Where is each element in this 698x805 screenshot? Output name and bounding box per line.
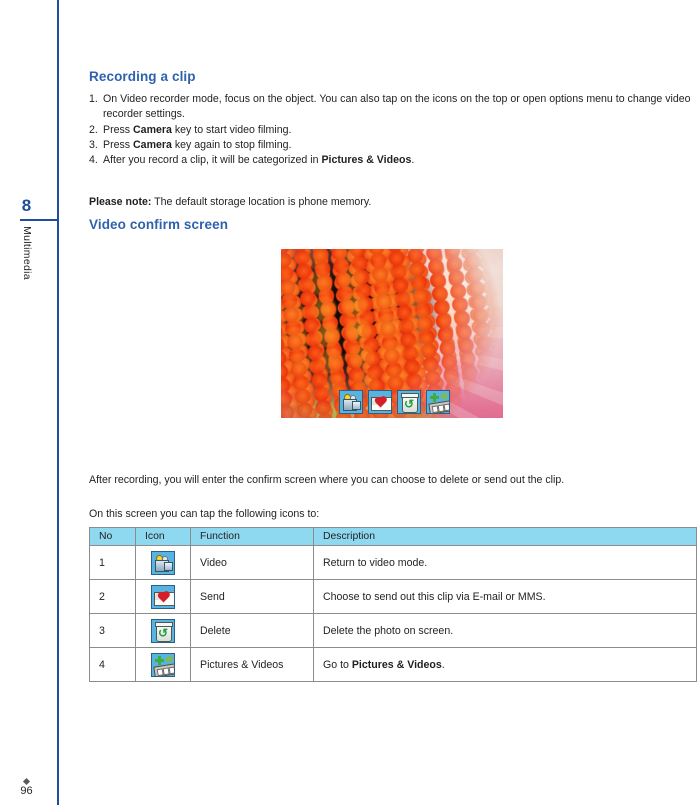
delete-icon[interactable]: ↺ [397,390,421,414]
procedure-step: 4.After you record a clip, it will be ca… [89,153,698,168]
plain-text: After you record a clip, it will be cate… [103,154,321,166]
plain-text: . [411,154,414,166]
step-number: 2. [89,123,98,138]
delete-icon: ↺ [151,619,175,643]
plain-text: key again to stop filming. [172,139,292,151]
column-header-description: Description [314,528,697,546]
cell-description: Return to video mode. [314,546,697,580]
cell-function: Send [191,580,314,614]
chapter-label: Multimedia [21,209,33,297]
paragraph-after-recording: After recording, you will enter the conf… [89,473,564,488]
procedure-step: 3.Press Camera key again to stop filming… [89,138,698,153]
plain-text: Choose to send out this clip via E-mail … [323,591,546,603]
cell-icon [136,580,191,614]
plain-text: key to start video filming. [172,124,292,136]
plain-text: Press [103,139,133,151]
confirm-screen-icons-table: No Icon Function Description 1VideoRetur… [89,527,697,682]
column-header-function: Function [191,528,314,546]
please-note-label: Please note: [89,196,151,208]
procedure-step: 2.Press Camera key to start video filmin… [89,123,698,138]
cell-description: Go to Pictures & Videos. [314,648,697,682]
plain-text: On Video recorder mode, focus on the obj… [103,93,691,120]
heading-video-confirm-screen: Video confirm screen [89,217,228,232]
plain-text: Delete the photo on screen. [323,625,453,637]
step-text: Press Camera key again to stop filming. [103,139,291,151]
step-text: Press Camera key to start video filming. [103,124,291,136]
diamond-bullet-icon [23,778,30,785]
plain-text: Return to video mode. [323,557,427,569]
rail-vertical-rule [57,0,59,805]
video-confirm-screen-image: ↺ [281,249,503,418]
step-text: On Video recorder mode, focus on the obj… [103,93,691,120]
send-icon [151,585,175,609]
procedure-step-list: 1.On Video recorder mode, focus on the o… [89,92,698,168]
cell-no: 4 [90,648,136,682]
table-row: 1VideoReturn to video mode. [90,546,697,580]
pictures-videos-icon[interactable] [426,390,450,414]
step-number: 3. [89,138,98,153]
plain-text: Press [103,124,133,136]
table-header-row: No Icon Function Description [90,528,697,546]
cell-function: Delete [191,614,314,648]
video-icon[interactable] [339,390,363,414]
page-number: 96 [0,785,53,797]
paragraph-on-this-screen: On this screen you can tap the following… [89,507,319,522]
cell-description: Choose to send out this clip via E-mail … [314,580,697,614]
pictures-videos-icon [151,653,175,677]
cell-no: 1 [90,546,136,580]
cell-icon [136,648,191,682]
plain-text: . [442,659,445,671]
emphasis-text: Pictures & Videos [321,154,411,166]
heading-recording-a-clip: Recording a clip [89,69,196,84]
table-body: 1VideoReturn to video mode.2SendChoose t… [90,546,697,682]
plain-text: Go to [323,659,352,671]
procedure-step: 1.On Video recorder mode, focus on the o… [89,92,698,123]
emphasis-text: Camera [133,124,172,136]
please-note-callout: Please note: The default storage locatio… [89,195,371,210]
column-header-icon: Icon [136,528,191,546]
cell-function: Video [191,546,314,580]
cell-description: Delete the photo on screen. [314,614,697,648]
cell-function: Pictures & Videos [191,648,314,682]
chapter-rail: 8 Multimedia [0,0,59,805]
table-row: 2SendChoose to send out this clip via E-… [90,580,697,614]
cell-icon [136,546,191,580]
emphasis-text: Pictures & Videos [352,659,442,671]
page-content: Recording a clip 1.On Video recorder mod… [89,0,698,805]
confirm-screen-icon-bar: ↺ [339,390,450,414]
step-number: 1. [89,92,98,107]
column-header-no: No [90,528,136,546]
please-note-text: The default storage location is phone me… [151,196,371,208]
cell-icon: ↺ [136,614,191,648]
table-row: 4Pictures & VideosGo to Pictures & Video… [90,648,697,682]
emphasis-text: Camera [133,139,172,151]
folio: 96 [0,779,53,797]
step-text: After you record a clip, it will be cate… [103,154,414,166]
cell-no: 2 [90,580,136,614]
table-row: 3↺DeleteDelete the photo on screen. [90,614,697,648]
send-icon[interactable] [368,390,392,414]
cell-no: 3 [90,614,136,648]
step-number: 4. [89,153,98,168]
video-icon [151,551,175,575]
